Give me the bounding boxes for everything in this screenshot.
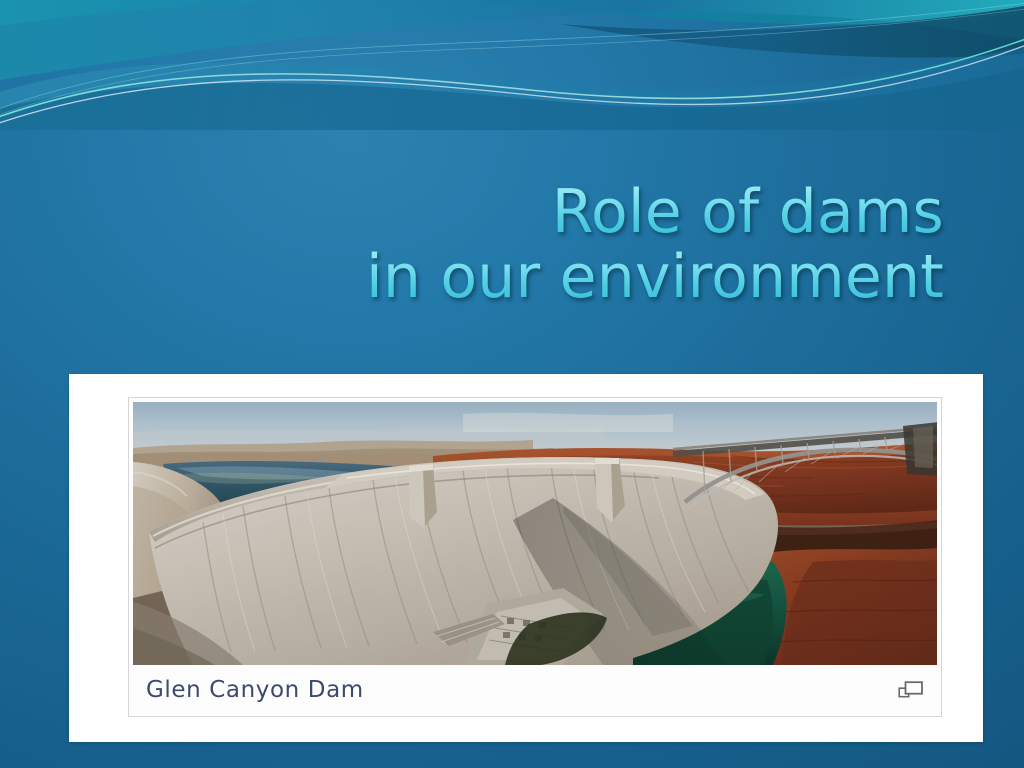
photo-caption: Glen Canyon Dam xyxy=(146,677,364,703)
glen-canyon-dam-photo xyxy=(133,402,937,665)
title-line-1: Role of dams xyxy=(60,180,944,245)
comment-callout-icon[interactable] xyxy=(898,680,924,700)
picture-frame: Glen Canyon Dam xyxy=(128,397,942,717)
title-line-2: in our environment xyxy=(60,245,944,310)
presentation-slide: Role of dams in our environment xyxy=(0,0,1024,768)
picture-panel: Glen Canyon Dam xyxy=(69,374,983,742)
caption-row: Glen Canyon Dam xyxy=(134,666,936,714)
flow-theme-swoosh xyxy=(0,0,1024,130)
page-title: Role of dams in our environment xyxy=(60,180,944,310)
